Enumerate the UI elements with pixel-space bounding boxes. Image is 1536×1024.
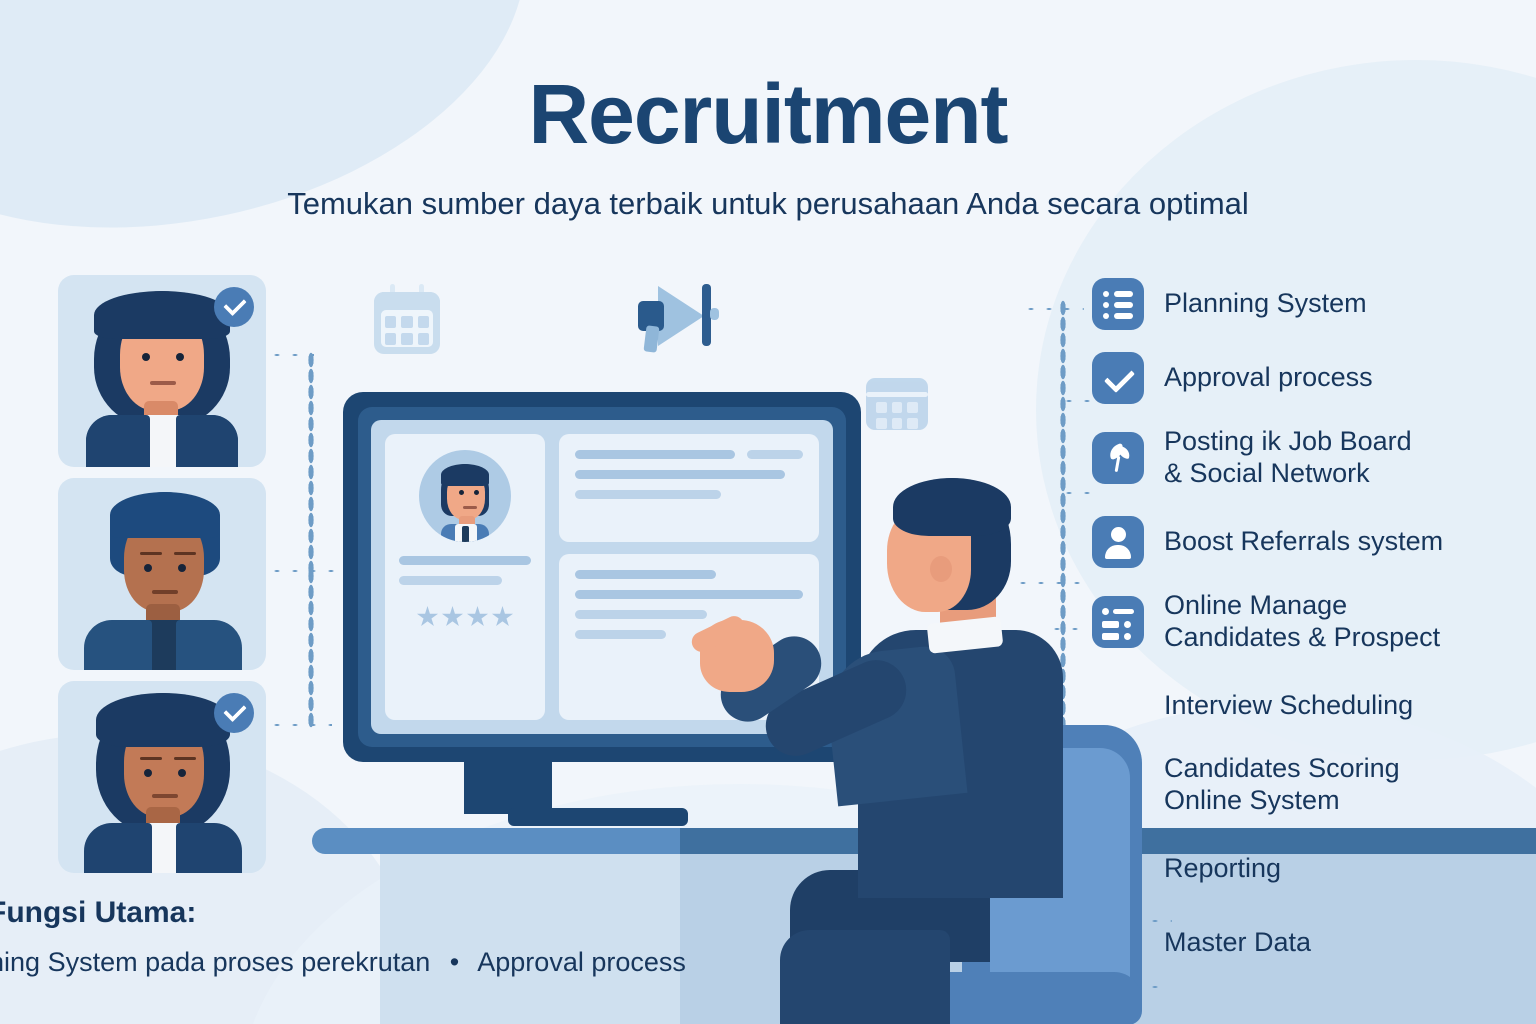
monitor-base xyxy=(508,808,688,826)
calendar-grid-icon xyxy=(866,378,928,430)
check-icon xyxy=(1092,352,1144,404)
feature-item-candidates-scoring[interactable]: Candidates Scoring Online System xyxy=(1092,753,1536,817)
page-title: Recruitment xyxy=(0,72,1536,156)
bullet-separator: • xyxy=(450,947,459,978)
monitor-stand xyxy=(464,762,552,814)
rating-stars xyxy=(417,606,514,628)
profile-avatar xyxy=(419,450,511,542)
feature-label: Posting ik Job Board & Social Network xyxy=(1164,426,1412,490)
verified-badge-3 xyxy=(214,693,254,733)
calendar-icon xyxy=(374,292,440,354)
person-hair-front xyxy=(893,478,1011,536)
feature-item-reporting[interactable]: Reporting xyxy=(1092,843,1536,895)
megaphone-icon xyxy=(632,282,712,348)
bottom-caption: nning System pada proses perekrutan • Ap… xyxy=(0,947,686,978)
feature-rail-branch-5 xyxy=(1048,626,1088,632)
bottom-item-2: Approval process xyxy=(477,947,686,977)
feature-label: Planning System xyxy=(1164,288,1367,320)
spacer xyxy=(1092,843,1144,895)
star-icon xyxy=(442,606,464,628)
spacer xyxy=(1092,679,1144,731)
feature-item-planning-system[interactable]: Planning System xyxy=(1092,278,1536,330)
feature-rail-branch-4 xyxy=(1014,580,1088,586)
infographic-canvas: Recruitment Temukan sumber daya terbaik … xyxy=(0,0,1536,1024)
content-panel-top xyxy=(559,434,819,542)
feature-rail-branch-3 xyxy=(1060,490,1090,496)
feature-item-posting-job-board[interactable]: Posting ik Job Board & Social Network xyxy=(1092,426,1536,490)
feature-list: Planning System Approval process Posting… xyxy=(1092,278,1536,991)
star-icon xyxy=(467,606,489,628)
profile-name-bar xyxy=(399,556,531,565)
star-icon xyxy=(492,606,514,628)
bottom-heading: -Fungsi Utama: xyxy=(0,896,196,930)
star-icon xyxy=(417,606,439,628)
feature-item-master-data[interactable]: Master Data xyxy=(1092,917,1536,969)
leaf-icon xyxy=(1092,432,1144,484)
profile-role-bar xyxy=(399,576,502,585)
page-subtitle: Temukan sumber daya terbaik untuk perusa… xyxy=(0,186,1536,222)
person-ear xyxy=(930,556,952,582)
connector-dots-5 xyxy=(268,722,332,728)
feature-item-boost-referrals[interactable]: Boost Referrals system xyxy=(1092,516,1536,568)
feature-rail-branch-2 xyxy=(1060,398,1090,404)
person-leg xyxy=(780,930,950,1024)
user-icon xyxy=(1092,516,1144,568)
feature-rail-branch-1 xyxy=(1022,306,1084,312)
verified-badge-1 xyxy=(214,287,254,327)
feature-label: Reporting xyxy=(1164,853,1281,885)
candidate-card-2[interactable] xyxy=(58,478,266,670)
feature-item-interview-scheduling[interactable]: Interview Scheduling xyxy=(1092,679,1536,731)
feature-label: Boost Referrals system xyxy=(1164,526,1443,558)
connector-dots-2 xyxy=(308,352,314,574)
form-icon xyxy=(1092,596,1144,648)
feature-label: Candidates Scoring Online System xyxy=(1164,753,1400,817)
feature-label: Online Manage Candidates & Prospect xyxy=(1164,590,1440,654)
candidate-card-3[interactable] xyxy=(58,681,266,873)
connector-dots-4 xyxy=(308,568,314,728)
profile-card-panel xyxy=(385,434,545,720)
candidate-avatar-2 xyxy=(58,478,266,670)
spacer xyxy=(1092,917,1144,969)
feature-item-approval-process[interactable]: Approval process xyxy=(1092,352,1536,404)
feature-label: Interview Scheduling xyxy=(1164,690,1413,722)
spacer xyxy=(1092,759,1144,811)
candidate-card-1[interactable] xyxy=(58,275,266,467)
feature-label: Master Data xyxy=(1164,927,1311,959)
feature-item-online-manage[interactable]: Online Manage Candidates & Prospect xyxy=(1092,590,1536,654)
feature-label: Approval process xyxy=(1164,362,1373,394)
bottom-item-1: nning System pada proses perekrutan xyxy=(0,947,430,977)
list-icon xyxy=(1092,278,1144,330)
